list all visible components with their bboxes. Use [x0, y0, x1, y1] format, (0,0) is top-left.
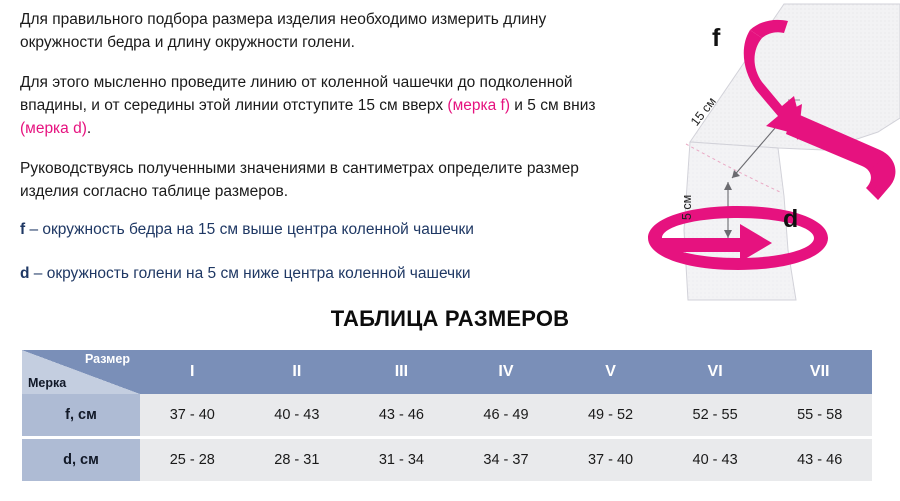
- table-cell: 43 - 46: [349, 394, 454, 436]
- row-label: d, см: [22, 439, 140, 481]
- table-cell: 34 - 37: [454, 439, 559, 481]
- table-header-row: Размер Мерка IIIIIIIVVVIVII: [22, 350, 872, 394]
- corner-measure-label: Мерка: [28, 376, 66, 390]
- table-row: f, см37 - 4040 - 4343 - 4646 - 4949 - 52…: [22, 394, 872, 436]
- size-table: Размер Мерка IIIIIIIVVVIVII f, см37 - 40…: [22, 350, 872, 481]
- text-segment: и 5 см вниз: [510, 97, 595, 114]
- row-label: f, см: [22, 394, 140, 436]
- table-cell: 40 - 43: [245, 394, 350, 436]
- paragraph-line: Для этого мысленно проведите линию от ко…: [20, 71, 620, 140]
- column-header-2: II: [245, 350, 350, 394]
- leg-measurement-figure: f d 15 см 5 см: [628, 0, 900, 310]
- label-d: d: [783, 205, 798, 234]
- text-segment: Руководствуясь полученными значениями в …: [20, 160, 579, 200]
- dimension-label-5cm: 5 см: [680, 195, 694, 220]
- corner-cell: Размер Мерка: [22, 350, 140, 394]
- table-cell: 55 - 58: [767, 394, 872, 436]
- text-segment: .: [87, 120, 91, 137]
- table-cell: 31 - 34: [349, 439, 454, 481]
- table-cell: 28 - 31: [245, 439, 350, 481]
- text-segment: (мерка f): [447, 97, 510, 114]
- column-header-3: III: [349, 350, 454, 394]
- table-cell: 40 - 43: [663, 439, 768, 481]
- definition-text: – окружность бедра на 15 см выше центра …: [25, 221, 474, 238]
- text-segment: Для правильного подбора размера изделия …: [20, 11, 546, 51]
- table-cell: 37 - 40: [558, 439, 663, 481]
- corner-size-label: Размер: [85, 352, 130, 366]
- column-header-4: IV: [454, 350, 559, 394]
- table-cell: 49 - 52: [558, 394, 663, 436]
- page-title: ТАБЛИЦА РАЗМЕРОВ: [0, 306, 900, 332]
- instructions-panel: Для правильного подбора размера изделия …: [20, 8, 620, 307]
- column-header-6: VI: [663, 350, 768, 394]
- table-cell: 37 - 40: [140, 394, 245, 436]
- column-header-5: V: [558, 350, 663, 394]
- definition-text: – окружность голени на 5 см ниже центра …: [29, 265, 470, 282]
- table-row: d, см25 - 2828 - 3131 - 3434 - 3737 - 40…: [22, 439, 872, 481]
- column-header-7: VII: [767, 350, 872, 394]
- table-cell: 46 - 49: [454, 394, 559, 436]
- paragraph-measure: Для правильного подбора размера изделия …: [20, 8, 620, 54]
- definition-f: f – окружность бедра на 15 см выше центр…: [20, 219, 620, 241]
- table-cell: 52 - 55: [663, 394, 768, 436]
- column-header-1: I: [140, 350, 245, 394]
- paragraph-table-reference: Руководствуясь полученными значениями в …: [20, 157, 620, 203]
- definition-d: d – окружность голени на 5 см ниже центр…: [20, 263, 620, 285]
- calf-arrow-d: [648, 206, 828, 270]
- table-cell: 43 - 46: [767, 439, 872, 481]
- table-cell: 25 - 28: [140, 439, 245, 481]
- text-segment: (мерка d): [20, 120, 87, 137]
- label-f: f: [712, 24, 720, 53]
